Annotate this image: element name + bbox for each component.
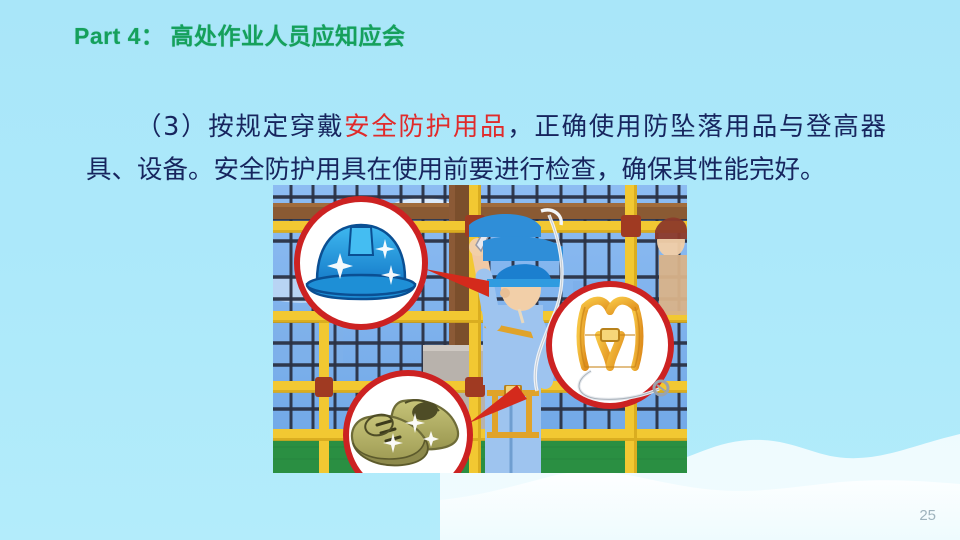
callout-helmet bbox=[297, 199, 425, 327]
title-text: 高处作业人员应知应会 bbox=[170, 24, 405, 50]
safety-illustration bbox=[273, 185, 687, 473]
paragraph-highlight: 安全防护用品 bbox=[344, 112, 507, 142]
slide-title: Part 4：高处作业人员应知应会 bbox=[74, 17, 405, 51]
page-number: 25 bbox=[919, 507, 936, 524]
slide-canvas: Part 4：高处作业人员应知应会 （3）按规定穿戴安全防护用品，正确使用防坠落… bbox=[0, 0, 960, 540]
paragraph-segment-1: （3）按规定穿戴 bbox=[136, 112, 344, 142]
body-paragraph: （3）按规定穿戴安全防护用品，正确使用防坠落用品与登高器具、设备。安全防护用具在… bbox=[86, 106, 886, 192]
title-prefix: Part 4： bbox=[74, 23, 164, 49]
callout-shoes bbox=[346, 373, 470, 473]
illustration-canvas bbox=[273, 185, 687, 473]
callout-harness bbox=[549, 284, 671, 406]
